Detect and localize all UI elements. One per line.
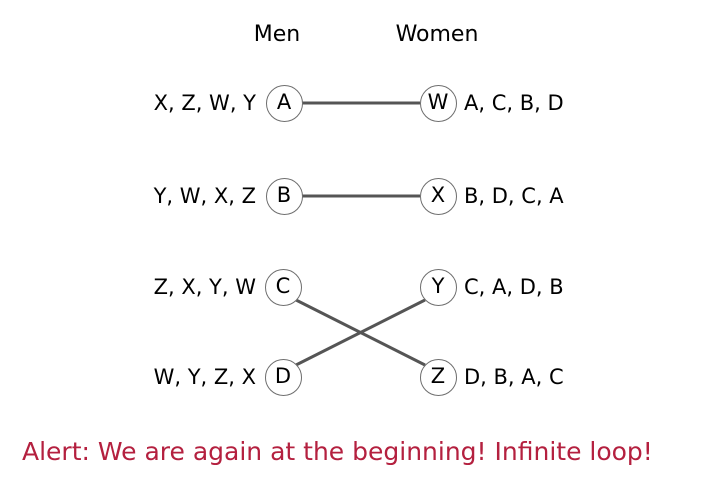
man-preference-list: Y, W, X, Z [154, 184, 256, 208]
woman-preference-list: C, A, D, B [464, 275, 564, 299]
node-woman-W-label: W [428, 92, 449, 113]
node-woman-W[interactable]: W [420, 85, 457, 122]
man-preference-list: W, Y, Z, X [154, 365, 256, 389]
alert-message: Alert: We are again at the beginning! In… [22, 437, 653, 466]
node-woman-Z[interactable]: Z [420, 359, 457, 396]
woman-preference-list: B, D, C, A [464, 184, 564, 208]
node-man-B[interactable]: B [266, 178, 303, 215]
node-woman-Y[interactable]: Y [420, 269, 457, 306]
stable-matching-diagram: Men Women X, Z, W, Y A W A, C, B, D Y, W… [0, 0, 707, 484]
node-man-C-label: C [276, 276, 291, 297]
node-woman-X[interactable]: X [420, 178, 457, 215]
node-man-C[interactable]: C [265, 269, 302, 306]
man-preference-list: X, Z, W, Y [154, 91, 256, 115]
node-woman-X-label: X [431, 185, 445, 206]
node-woman-Y-label: Y [432, 276, 445, 297]
node-man-A-label: A [277, 92, 291, 113]
man-preference-list: Z, X, Y, W [154, 275, 256, 299]
edge-layer [0, 0, 707, 484]
woman-preference-list: A, C, B, D [464, 91, 564, 115]
node-man-D-label: D [275, 366, 291, 387]
woman-preference-list: D, B, A, C [464, 365, 564, 389]
node-man-A[interactable]: A [266, 85, 303, 122]
node-woman-Z-label: Z [431, 366, 445, 387]
node-man-B-label: B [277, 185, 291, 206]
node-man-D[interactable]: D [265, 359, 302, 396]
